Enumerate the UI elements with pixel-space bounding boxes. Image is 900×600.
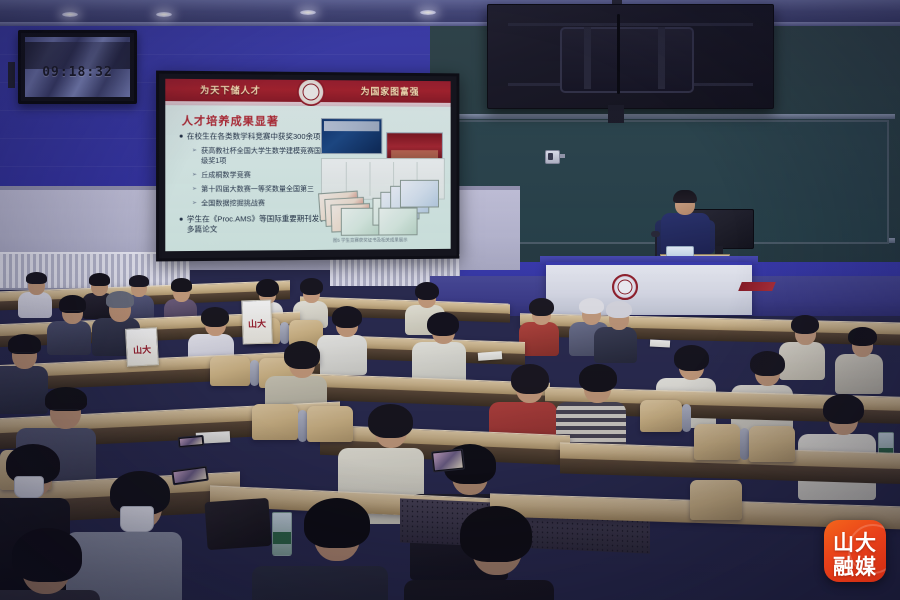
- downlight-icon: [300, 10, 316, 15]
- banner-motto-left: 为天下储人才: [200, 83, 261, 97]
- seat: [640, 400, 682, 432]
- slide-bullet-list: 在校生在各类数学科竞赛中获奖300余项 ➢获高教社杯全国大学生数学建模竞赛国家级…: [180, 132, 331, 241]
- seat: [307, 406, 353, 442]
- downlight-icon: [156, 12, 172, 17]
- projection-display[interactable]: 为天下储人才 为国家图富强 人才培养成果显著 在校生在各类数学科竞赛中获奖300…: [156, 71, 459, 262]
- award-ceremony-photo: [321, 118, 382, 154]
- tv-stem: [608, 105, 624, 123]
- slide-title: 人才培养成果显著: [182, 112, 279, 129]
- university-seal-icon: [297, 79, 325, 106]
- list-item: ➢第十四届大数赛一等奖数量全国第三: [192, 185, 331, 196]
- smartphone[interactable]: [178, 435, 205, 448]
- banner-motto-right: 为国家图富强: [361, 84, 420, 97]
- tv-vesa-plate: [560, 27, 694, 93]
- list-item: ➢获高教社杯全国大学生数学建模竞赛国家级奖1项: [192, 147, 331, 168]
- water-bottle: [272, 512, 292, 556]
- seat: [749, 426, 795, 462]
- paper-handout: [478, 351, 502, 361]
- downlight-icon: [62, 12, 78, 17]
- downlight-icon: [420, 10, 436, 15]
- seat: [252, 404, 298, 440]
- microphone-head-icon: [651, 231, 660, 237]
- seat: [690, 480, 742, 520]
- stage-step-accent: [738, 282, 776, 291]
- ceiling-television-rear: [487, 4, 774, 109]
- placard: 山大: [125, 327, 159, 367]
- wall-monitor[interactable]: 09:18:32: [18, 30, 137, 104]
- university-emblem-icon: [612, 274, 638, 300]
- slide-image-collage: 图5 学生竞赛获奖证书及相关成果展示: [319, 114, 445, 242]
- seat-divider: [250, 360, 259, 386]
- podium-microphone: [655, 236, 657, 258]
- collage-caption: 图5 学生竞赛获奖证书及相关成果展示: [333, 237, 408, 244]
- list-item: 在校生在各类数学科竞赛中获奖300余项: [180, 132, 331, 143]
- monitor-wall-arm: [8, 62, 15, 88]
- watermark-line-2: 融媒: [824, 551, 886, 581]
- list-item: ➢丘成桐数学竞赛: [192, 171, 331, 181]
- seat-divider: [740, 428, 749, 460]
- tv-cable: [617, 14, 620, 94]
- podium: [546, 262, 752, 315]
- media-watermark-logo: 山大 融媒: [824, 520, 886, 582]
- placard: 山大: [241, 299, 273, 344]
- list-item: 学生在《Proc.AMS》等国际重要期刊发表多篇论文: [180, 213, 331, 236]
- security-camera-icon: [545, 150, 560, 164]
- clock-display: 09:18:32: [25, 65, 130, 80]
- seat: [694, 424, 740, 460]
- smartphone[interactable]: [431, 448, 465, 472]
- presenter-hair: [673, 190, 697, 203]
- presentation-slide: 为天下储人才 为国家图富强 人才培养成果显著 在校生在各类数学科竞赛中获奖300…: [165, 79, 450, 251]
- seat-divider: [280, 322, 289, 344]
- wall-monitor-screen: 09:18:32: [25, 37, 130, 97]
- seat-divider: [682, 404, 691, 432]
- chalk-rail: [455, 114, 895, 119]
- camera-lens-icon: [548, 153, 553, 160]
- lecture-hall-photo: 09:18:32 为天下储人才 为国家图富强 人才培养成果显著 在校生在各类数学…: [0, 0, 900, 600]
- backpack: [204, 498, 271, 550]
- list-item: ➢全国数据挖掘挑战赛: [192, 199, 331, 210]
- seat: [210, 356, 250, 386]
- paper-handout: [650, 339, 670, 347]
- seat-divider: [298, 410, 307, 442]
